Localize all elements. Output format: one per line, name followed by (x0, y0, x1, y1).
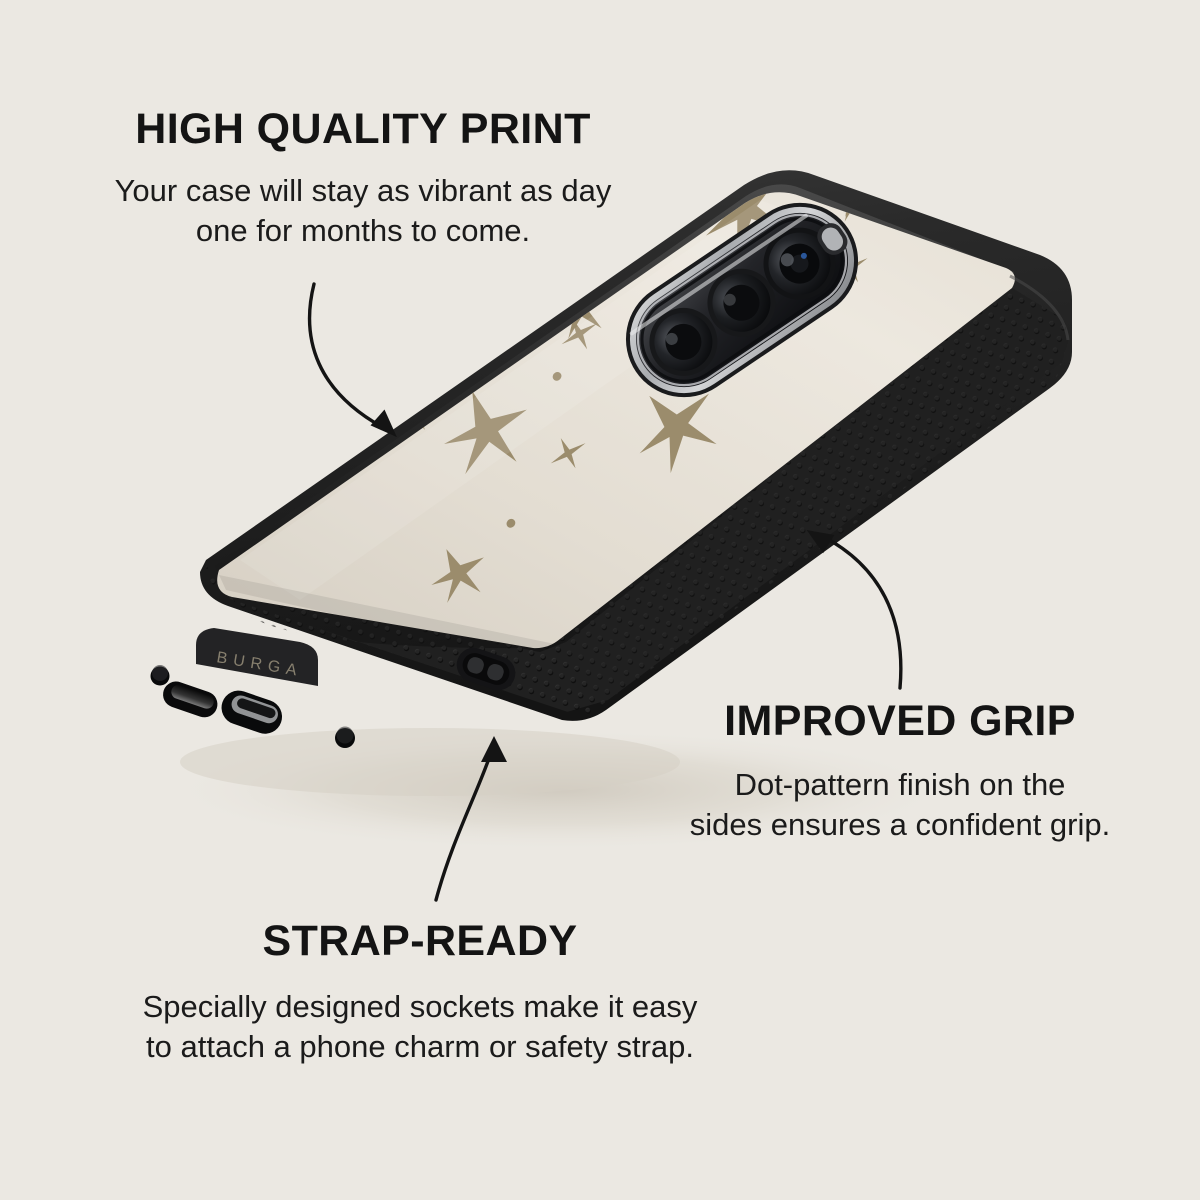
feature-body-line-1: Dot-pattern finish on the (645, 765, 1155, 805)
bottom-edge-ports (151, 665, 356, 748)
side-strap-socket (452, 643, 520, 695)
burga-logo-tab: BURGA (196, 628, 318, 686)
dot-pattern-bottom-rail (180, 540, 640, 740)
arrow-high-quality-print (310, 284, 384, 428)
burga-logo-text: BURGA (215, 649, 304, 680)
camera-lens-1 (636, 295, 730, 389)
plate-sheen (219, 196, 1012, 660)
product-feature-image: BURGA (0, 0, 1200, 1200)
camera-lens-2 (694, 256, 788, 350)
feature-title: HIGH QUALITY PRINT (58, 108, 668, 151)
feature-title: STRAP-READY (90, 920, 750, 963)
feature-body-line-2: to attach a phone charm or safety strap. (90, 1027, 750, 1067)
strap-socket-left (151, 665, 170, 686)
camera-lens-3 (750, 214, 850, 314)
arrowhead-high-quality-print (369, 408, 401, 437)
feature-body: Specially designed sockets make it easy … (90, 987, 750, 1066)
dot-pattern-grip-rail (180, 240, 1100, 740)
arrow-improved-grip (822, 536, 901, 688)
feature-body-line-1: Your case will stay as vibrant as day (58, 171, 668, 211)
arrowhead-improved-grip (805, 530, 834, 554)
case-back-plate (217, 192, 1015, 648)
arrow-strap-ready (436, 750, 492, 900)
feature-strap-ready: STRAP-READY Specially designed sockets m… (90, 920, 750, 1066)
usb-c-port (217, 686, 287, 738)
feature-improved-grip: IMPROVED GRIP Dot-pattern finish on the … (645, 700, 1155, 844)
feature-body-line-2: sides ensures a confident grip. (645, 805, 1155, 845)
strap-socket-right (335, 727, 355, 749)
arrowhead-strap-ready (481, 736, 507, 762)
feature-title: IMPROVED GRIP (645, 700, 1155, 743)
feature-body: Dot-pattern finish on the sides ensures … (645, 765, 1155, 844)
star-print-pattern (195, 0, 1200, 617)
case-bumper (200, 170, 1072, 721)
feature-body: Your case will stay as vibrant as day on… (58, 171, 668, 250)
feature-body-line-2: one for months to come. (58, 211, 668, 251)
feature-high-quality-print: HIGH QUALITY PRINT Your case will stay a… (58, 108, 668, 250)
speaker-grille (160, 678, 221, 721)
feature-body-line-1: Specially designed sockets make it easy (90, 987, 750, 1027)
camera-flash (813, 219, 852, 260)
